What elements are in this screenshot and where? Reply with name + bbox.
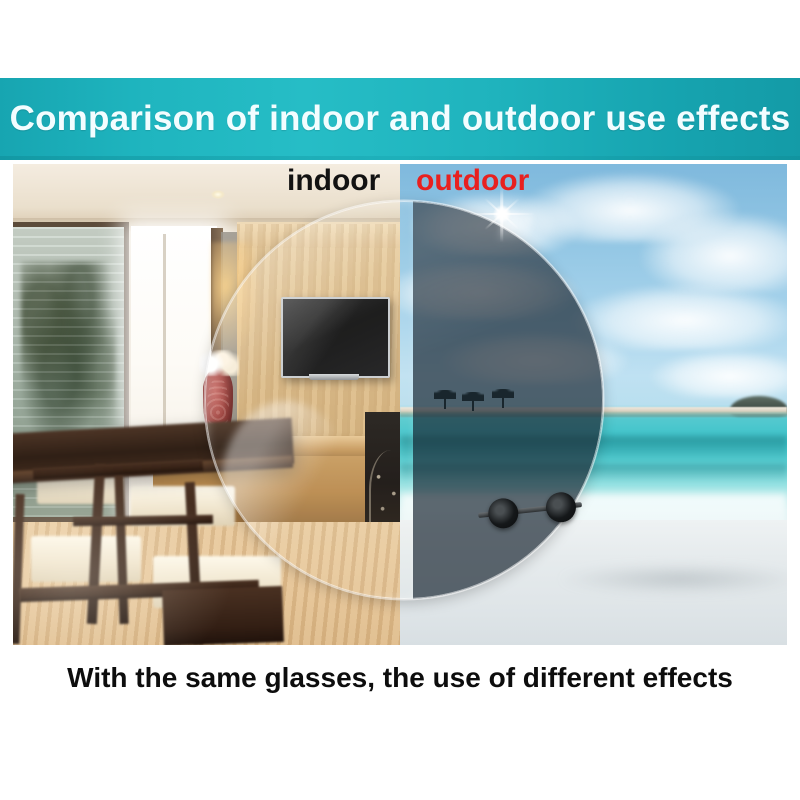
- label-outdoor: outdoor: [416, 166, 529, 196]
- promo-image-root: Comparison of indoor and outdoor use eff…: [0, 0, 800, 800]
- cloud: [640, 212, 787, 292]
- bottom-caption: With the same glasses, the use of differ…: [0, 662, 800, 694]
- comparison-photo: [13, 164, 787, 645]
- banner-title: Comparison of indoor and outdoor use eff…: [10, 99, 791, 139]
- barbell-plate: [544, 491, 577, 524]
- label-indoor: indoor: [287, 166, 380, 196]
- lens-tinted-half: [413, 201, 603, 599]
- barbell-plate: [487, 497, 520, 530]
- header-banner: Comparison of indoor and outdoor use eff…: [0, 78, 800, 160]
- cloud: [650, 350, 787, 398]
- photochromic-lens: [205, 201, 603, 599]
- ceiling-downlight: [211, 190, 225, 199]
- foreground-blur-veil: [13, 464, 233, 645]
- lens-clear-half: [205, 201, 413, 599]
